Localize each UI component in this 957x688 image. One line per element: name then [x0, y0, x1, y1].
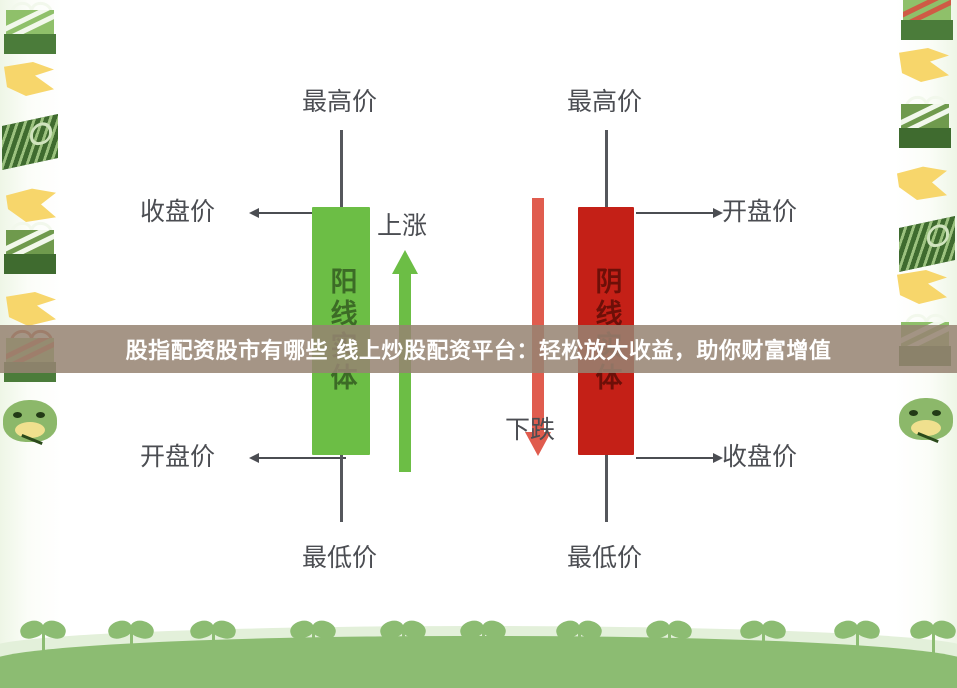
bearish-upper-wick [605, 130, 608, 208]
bearish-close-arrow [636, 457, 714, 459]
arrow-head-right-icon [713, 453, 723, 463]
gift-box-icon [4, 8, 56, 54]
ribbon-flag-icon [897, 166, 947, 200]
screenshot-root: 最高价 收盘价 开盘价 阳线实体 上涨 最低价 最高价 开盘价 收盘价 [0, 0, 957, 688]
gift-box-icon [901, 0, 953, 40]
gift-box-icon [899, 102, 951, 148]
ribbon-flag-icon [897, 270, 947, 304]
bullish-lower-wick [340, 455, 343, 522]
bearish-low-label: 最低价 [567, 538, 642, 574]
bearish-high-label: 最高价 [567, 82, 642, 118]
ribbon-flag-icon [6, 292, 56, 326]
bearish-open-arrow [636, 212, 714, 214]
gift-box-icon [4, 228, 56, 274]
bearish-close-label: 收盘价 [722, 437, 797, 473]
arrow-head-right-icon [713, 208, 723, 218]
ribbon-flag-icon [6, 188, 56, 222]
ribbon-flag-icon [899, 48, 949, 82]
arrow-head-left-icon [249, 208, 259, 218]
bearish-trend-label: 下跌 [505, 410, 555, 446]
bullish-low-label: 最低价 [302, 538, 377, 574]
grass-decoration [0, 606, 957, 688]
bullish-trend-label: 上涨 [377, 206, 427, 242]
arrow-head-left-icon [249, 453, 259, 463]
ribbon-flag-icon [4, 62, 54, 96]
overlay-banner-text: 股指配资股市有哪些 线上炒股配资平台：轻松放大收益，助你财富增值 [126, 333, 832, 365]
bullish-high-label: 最高价 [302, 82, 377, 118]
frog-icon [899, 398, 953, 440]
down-arrow-shaft [532, 198, 544, 434]
grass-hill-front [0, 636, 957, 688]
bearish-lower-wick [605, 455, 608, 522]
bullish-open-label: 开盘价 [140, 437, 215, 473]
frog-icon [3, 400, 57, 442]
striped-ticket-icon [2, 114, 58, 170]
bearish-open-label: 开盘价 [722, 192, 797, 228]
up-arrow-tip [392, 250, 418, 274]
bullish-close-label: 收盘价 [140, 192, 215, 228]
overlay-banner: 股指配资股市有哪些 线上炒股配资平台：轻松放大收益，助你财富增值 [0, 325, 957, 373]
striped-ticket-icon [899, 216, 955, 272]
bullish-upper-wick [340, 130, 343, 208]
